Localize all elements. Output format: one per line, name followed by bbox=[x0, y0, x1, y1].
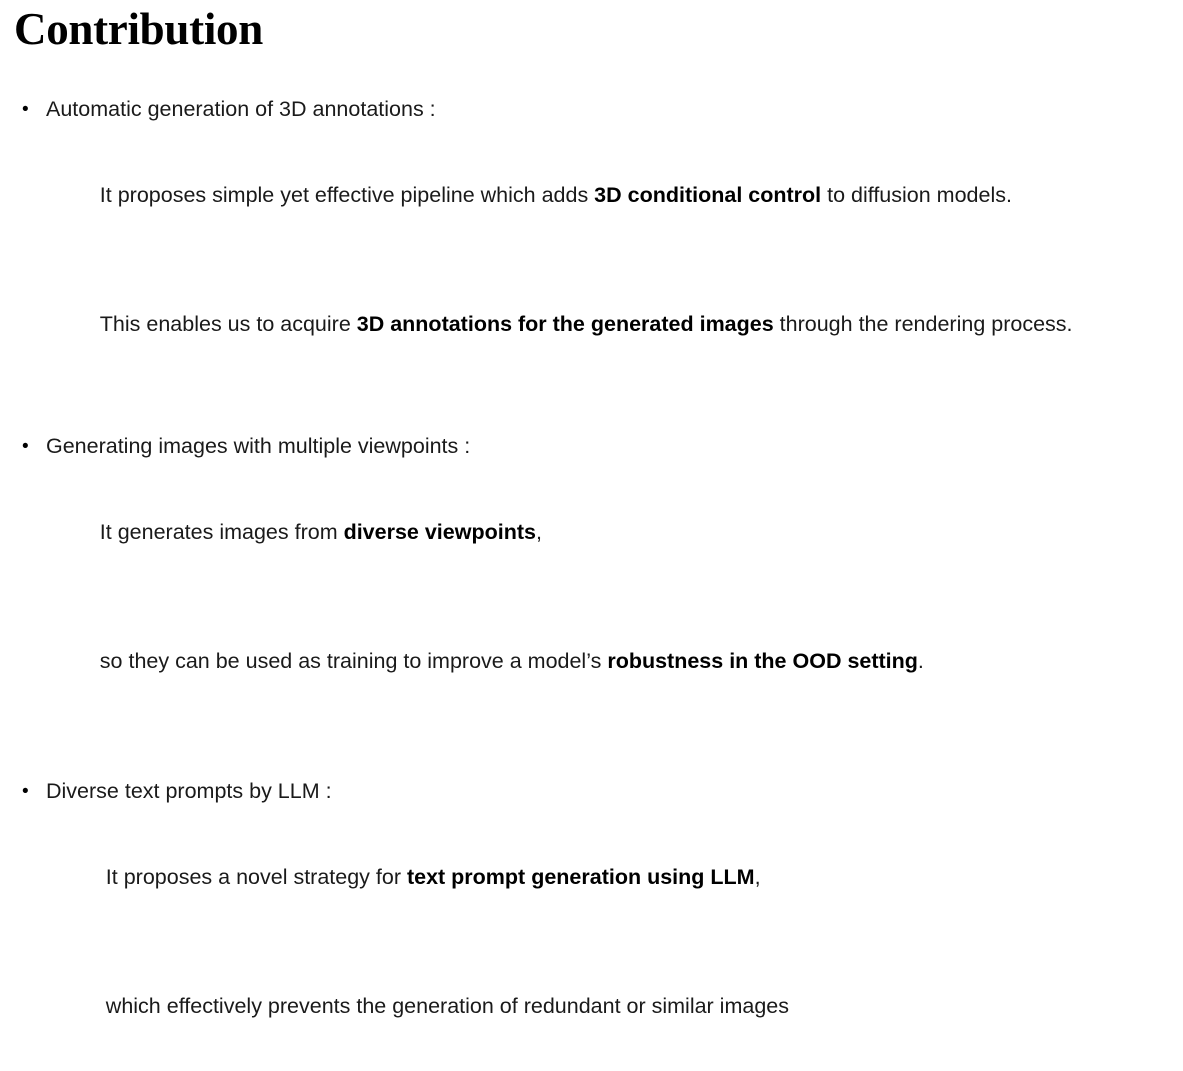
bullet-heading: • Generating images with multiple viewpo… bbox=[22, 425, 1172, 468]
text-run-bold: robustness in the OOD setting bbox=[607, 649, 918, 673]
bullet-heading-text: Generating images with multiple viewpoin… bbox=[46, 425, 470, 468]
text-run-bold: text prompt generation using LLM bbox=[407, 865, 755, 889]
bullet-point-icon: • bbox=[22, 425, 46, 468]
bullet-point-icon: • bbox=[22, 770, 46, 813]
bullet-group-multiple-viewpoints: • Generating images with multiple viewpo… bbox=[22, 425, 1172, 726]
bullet-sub-line: so they can be used as training to impro… bbox=[22, 597, 1172, 726]
bullet-group-diverse-text-prompts: • Diverse text prompts by LLM : It propo… bbox=[22, 770, 1172, 1071]
text-run: It proposes a novel strategy for bbox=[106, 865, 407, 889]
text-run: It generates images from bbox=[100, 520, 344, 544]
text-run: so they can be used as training to impro… bbox=[100, 649, 608, 673]
text-run-bold: 3D conditional control bbox=[594, 183, 821, 207]
bullet-heading-text: Automatic generation of 3D annotations : bbox=[46, 88, 436, 131]
text-run: , bbox=[755, 865, 761, 889]
slide: Contribution • Automatic generation of 3… bbox=[0, 0, 1183, 568]
text-run: This enables us to acquire bbox=[100, 312, 357, 336]
bullet-sub-line: This enables us to acquire 3D annotation… bbox=[22, 260, 1172, 389]
bullet-sub-line: which effectively prevents the generatio… bbox=[22, 942, 1172, 1071]
bullet-heading: • Diverse text prompts by LLM : bbox=[22, 770, 1172, 813]
text-run: , bbox=[536, 520, 542, 544]
bullet-sub-line: It proposes a novel strategy for text pr… bbox=[22, 813, 1172, 942]
page-title: Contribution bbox=[14, 2, 263, 56]
text-run: It proposes simple yet effective pipelin… bbox=[100, 183, 594, 207]
bullet-sub-line: It generates images from diverse viewpoi… bbox=[22, 468, 1172, 597]
bullet-point-icon: • bbox=[22, 88, 46, 131]
text-run: to diffusion models. bbox=[821, 183, 1012, 207]
bullet-sub-line: It proposes simple yet effective pipelin… bbox=[22, 131, 1172, 260]
text-run: . bbox=[918, 649, 924, 673]
bullet-heading: • Automatic generation of 3D annotations… bbox=[22, 88, 1172, 131]
bullet-heading-text: Diverse text prompts by LLM : bbox=[46, 770, 332, 813]
text-run: which effectively prevents the generatio… bbox=[106, 994, 789, 1018]
bullet-group-automatic-generation: • Automatic generation of 3D annotations… bbox=[22, 88, 1172, 389]
contribution-list: • Automatic generation of 3D annotations… bbox=[22, 88, 1172, 1071]
text-run: through the rendering process. bbox=[774, 312, 1073, 336]
text-run-bold: diverse viewpoints bbox=[344, 520, 536, 544]
text-run-bold: 3D annotations for the generated images bbox=[357, 312, 774, 336]
